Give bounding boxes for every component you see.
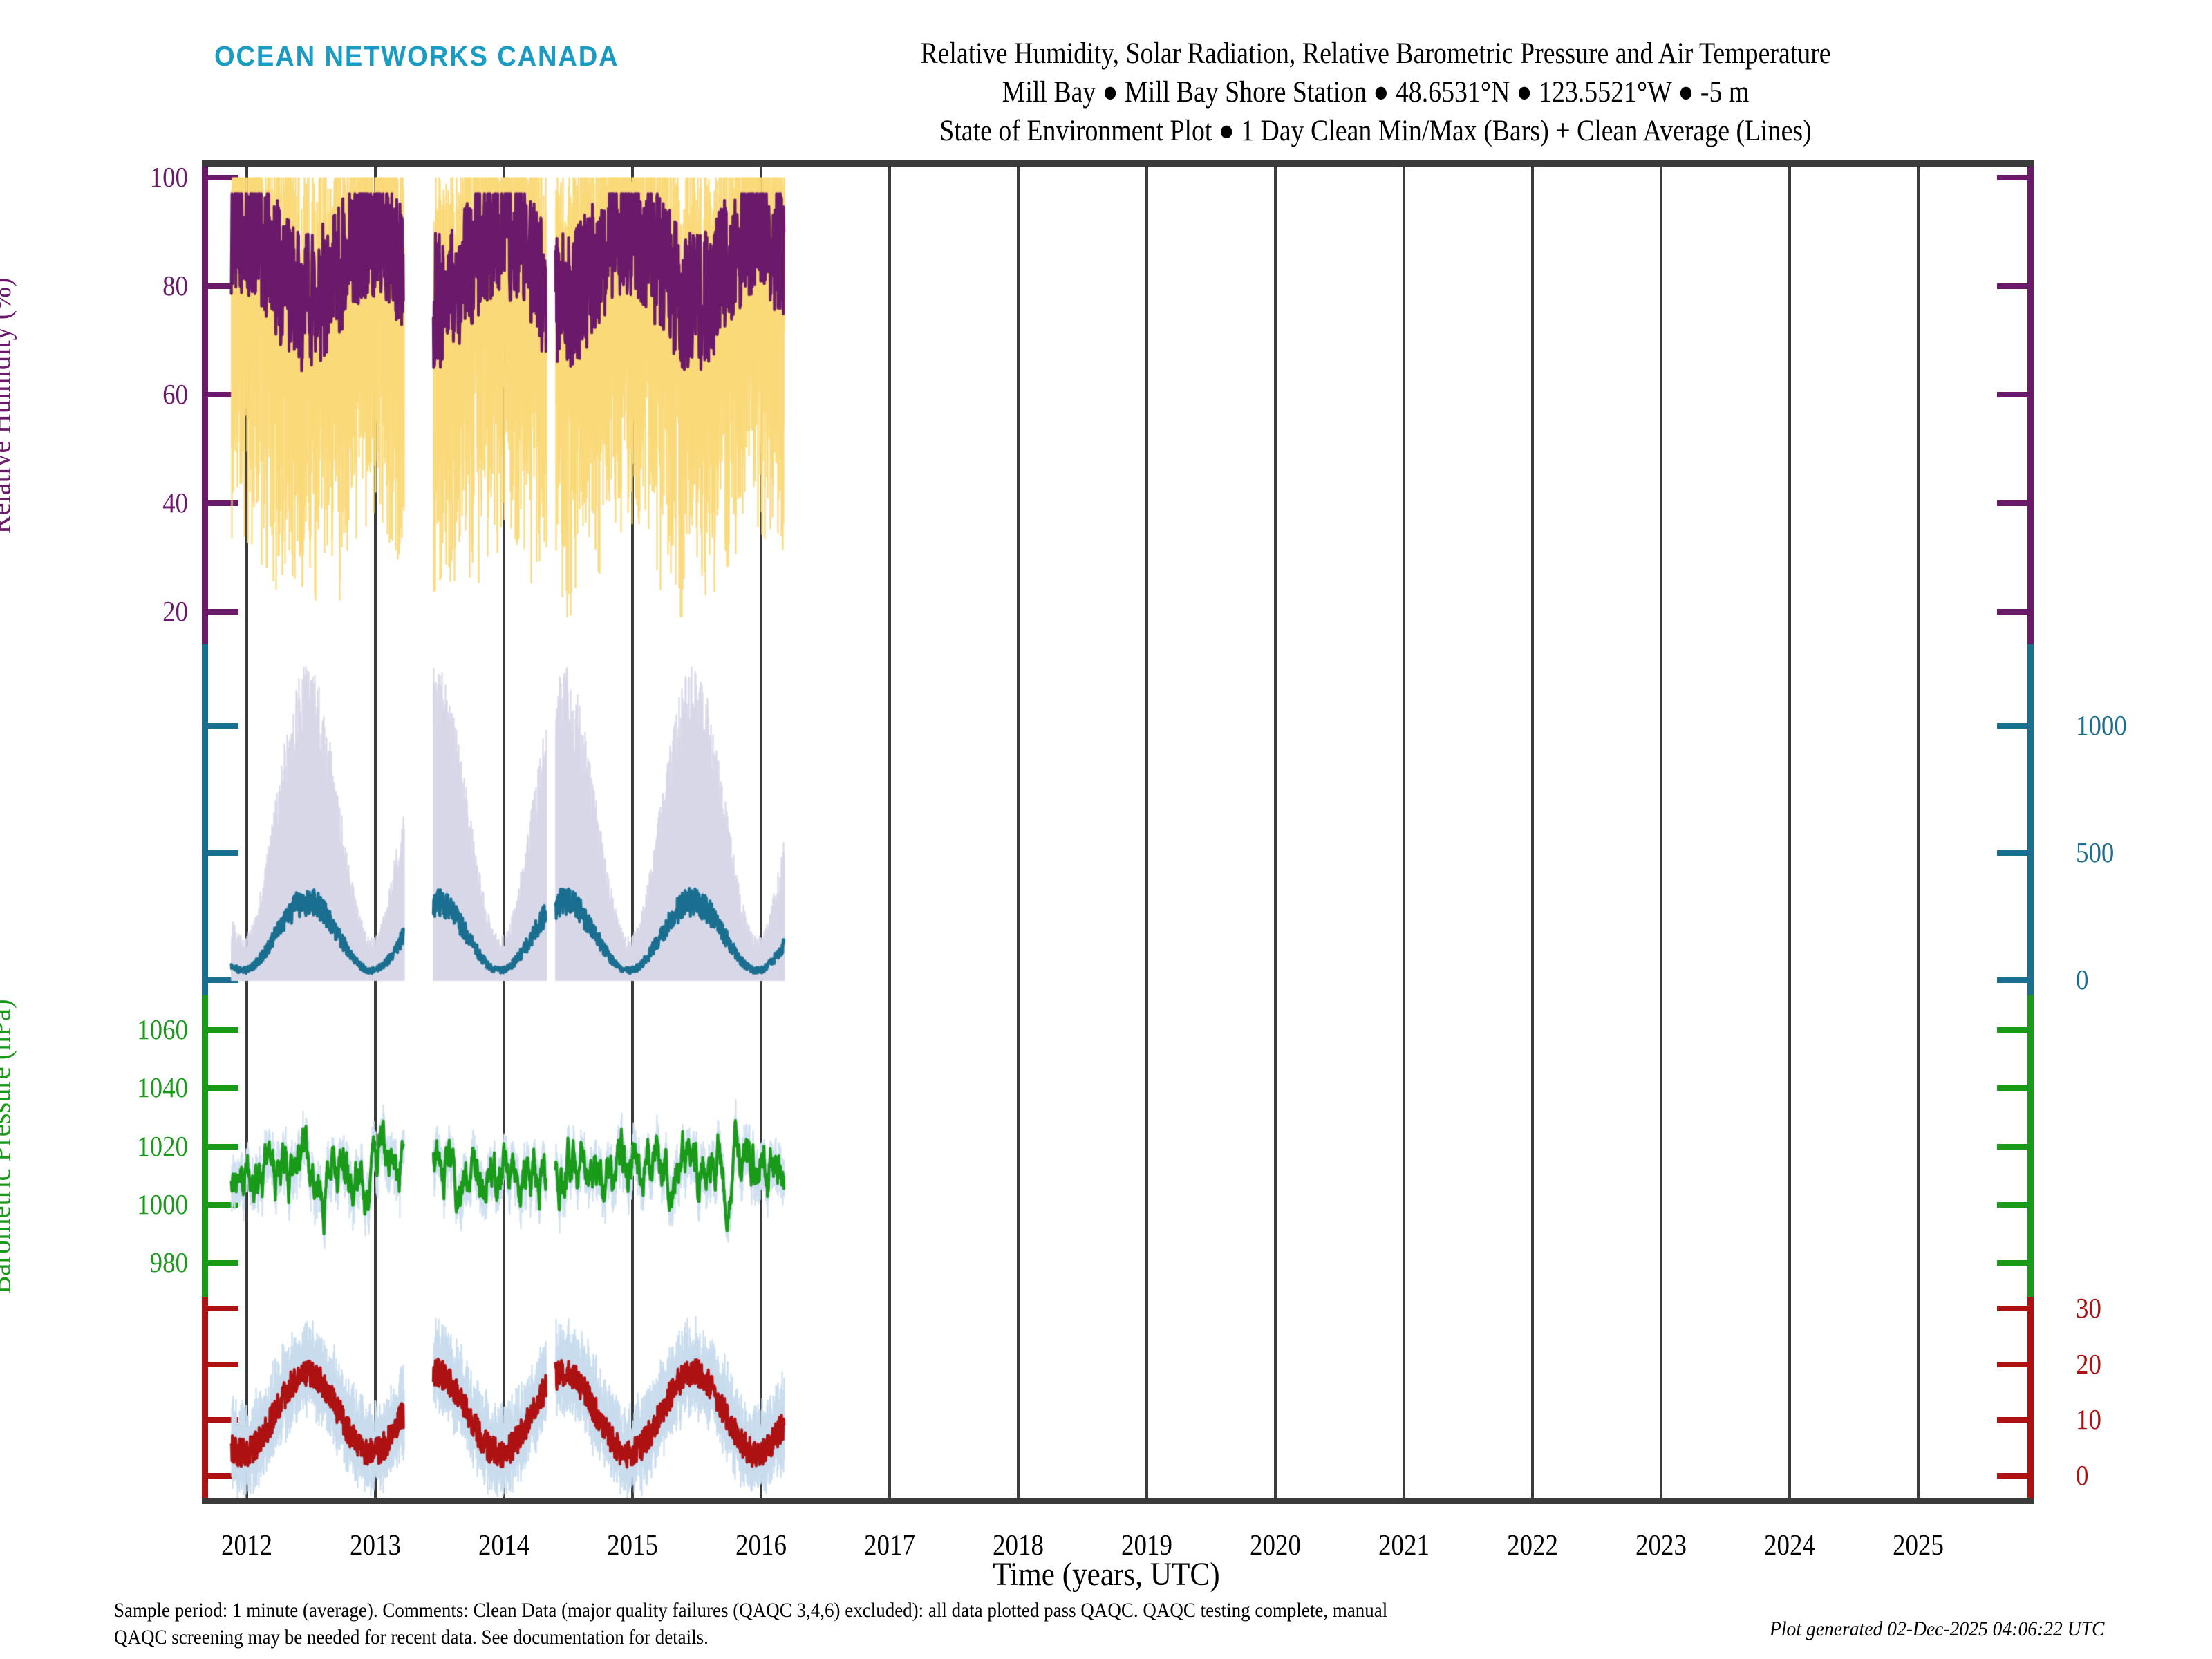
footnote: Sample period: 1 minute (average). Comme… [114,1597,1766,1651]
chart-title-block: Relative Humidity, Solar Radiation, Rela… [719,35,2032,151]
chart-title-line-3: State of Environment Plot ● 1 Day Clean … [798,112,1953,151]
plot-frame-top [202,160,2034,167]
ticklabel-humidity-80: 80 [39,272,188,300]
left-spine-humidity [202,167,208,644]
ticklabel-pressure-1000: 1000 [39,1190,188,1219]
ticklabel-solar-1000: 1000 [2076,711,2212,740]
ticklabel-temperature-10: 10 [2076,1405,2212,1434]
ticklabel-temperature-30: 30 [2076,1294,2212,1322]
footnote-line-2: QAQC screening may be needed for recent … [114,1624,709,1651]
right-spine-solar [2027,644,2034,995]
x-axis-title: Time (years, UTC) [0,1555,2212,1593]
ticklabel-pressure-1040: 1040 [39,1074,188,1102]
footnote-line-1: Sample period: 1 minute (average). Comme… [114,1597,1387,1624]
ticklabel-pressure-1060: 1060 [39,1015,188,1044]
onc-logo: OCEAN NETWORKS CANADA [214,40,619,73]
ticklabel-temperature-20: 20 [2076,1350,2212,1378]
left-spine-pressure [202,995,208,1297]
axis-title-humidity: Relative Humidity (%) [0,277,18,534]
right-spine-humidity [2027,167,2034,644]
plot-generated-timestamp: Plot generated 02-Dec-2025 04:06:22 UTC [1770,1618,2134,1641]
plot-generated-text: Plot generated 02-Dec-2025 04:06:22 UTC [1770,1618,2104,1641]
left-spine-temperature [202,1297,208,1498]
ticklabel-humidity-100: 100 [39,163,188,191]
ticklabel-solar-0: 0 [2076,966,2212,994]
ticklabel-pressure-1020: 1020 [39,1132,188,1161]
right-spine-temperature [2027,1297,2034,1498]
ticklabel-humidity-60: 60 [39,380,188,409]
axis-title-temperature: Air Temperature (C) [2207,1283,2212,1512]
axis-title-pressure: Barometric Pressure (hPa) [0,999,18,1294]
left-spine-solar [202,644,208,995]
plot-frame-bottom [202,1498,2034,1504]
x-axis-title-text: Time (years, UTC) [993,1555,1219,1593]
ticklabel-temperature-0: 0 [2076,1461,2212,1490]
ticklabel-humidity-40: 40 [39,489,188,517]
right-spine-pressure [2027,995,2034,1297]
axis-title-solar: Solar Radiation (W/m²) [2207,687,2212,952]
ticklabel-solar-500: 500 [2076,838,2212,867]
chart-title-line-2: Mill Bay ● Mill Bay Shore Station ● 48.6… [798,73,1953,112]
plot-area [202,160,2034,1504]
ticklabel-humidity-20: 20 [39,597,188,626]
ticklabel-pressure-980: 980 [39,1248,188,1277]
chart-title-line-1: Relative Humidity, Solar Radiation, Rela… [798,35,1953,73]
data-canvas [208,167,2027,1498]
